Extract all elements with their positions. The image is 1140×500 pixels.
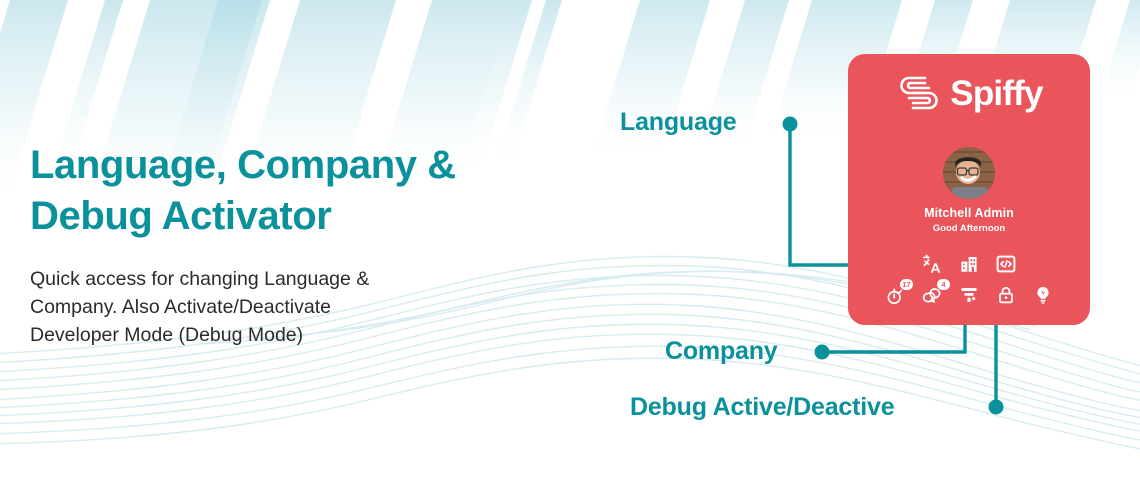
page-subtitle: Quick access for changing Language & Com… <box>30 266 480 349</box>
dot-company <box>815 345 830 360</box>
bulb-icon[interactable] <box>1032 284 1054 306</box>
headline-line-2: Debug Activator <box>30 194 331 238</box>
user-greeting: Good Afternoon <box>848 223 1090 234</box>
dot-language <box>783 117 798 132</box>
user-menu-card: Spiffy <box>848 54 1090 325</box>
primary-action-icons <box>848 253 1090 275</box>
dot-debug <box>989 400 1004 415</box>
avatar-photo <box>943 147 995 199</box>
subtitle-line-3: Developer Mode (Debug Mode) <box>30 324 303 346</box>
subtitle-line-2: Company. Also Activate/Deactivate <box>30 296 331 318</box>
avatar[interactable] <box>943 147 995 199</box>
promo-banner: Language, Company & Debug Activator Quic… <box>0 0 1140 500</box>
callout-label-language: Language <box>620 108 736 137</box>
spiffy-s-logo-icon <box>895 71 943 115</box>
callout-label-debug: Debug Active/Deactive <box>630 393 894 422</box>
subtitle-line-1: Quick access for changing Language & <box>30 268 369 290</box>
headline-block: Language, Company & Debug Activator Quic… <box>30 140 550 349</box>
page-title: Language, Company & Debug Activator <box>30 140 550 242</box>
code-icon[interactable] <box>995 253 1017 275</box>
user-name: Mitchell Admin <box>848 206 1090 220</box>
activity-icon[interactable] <box>958 284 980 306</box>
callout-label-company: Company <box>665 337 778 366</box>
timer-icon[interactable]: 17 <box>884 284 906 306</box>
headline-line-1: Language, Company & <box>30 143 456 187</box>
brand-name: Spiffy <box>950 76 1042 111</box>
secondary-action-icons: 17 4 <box>848 284 1090 306</box>
chat-badge: 4 <box>937 279 950 290</box>
building-icon[interactable] <box>958 253 980 275</box>
lock-icon[interactable] <box>995 284 1017 306</box>
translate-icon[interactable] <box>921 253 943 275</box>
brand-logo: Spiffy <box>848 71 1090 115</box>
timer-badge: 17 <box>900 279 913 290</box>
chat-icon[interactable]: 4 <box>921 284 943 306</box>
